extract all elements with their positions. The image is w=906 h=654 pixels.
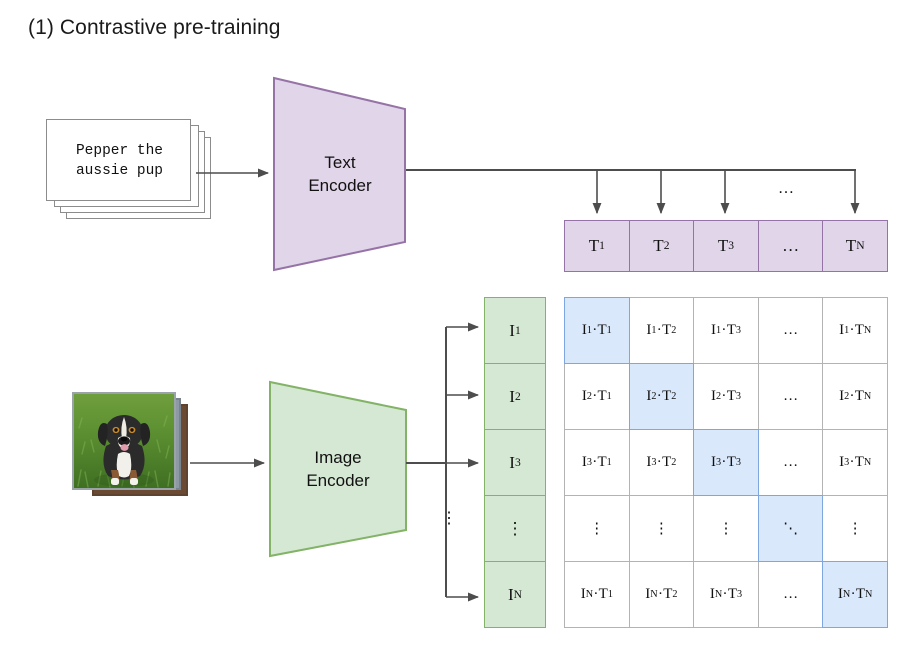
matrix-cell-r3-c3: I3·T3 [693, 429, 759, 496]
matrix-cell-r3-c1: I3·T1 [564, 429, 630, 496]
diagram-canvas: (1) Contrastive pre-training Pepper the … [0, 0, 906, 654]
text-encoder-block: Text Encoder [272, 76, 408, 272]
matrix-cell-r1-c5: I1·TN [822, 297, 888, 364]
image-encoder-block: Image Encoder [268, 380, 408, 558]
matrix-cell-r3-c4: … [758, 429, 824, 496]
similarity-matrix: I1·T1I1·T2I1·T3…I1·TNI2·T1I2·T2I2·T3…I2·… [564, 297, 888, 628]
text-embedding-cell-5: TN [822, 220, 888, 272]
matrix-cell-r5-c5: IN·TN [822, 561, 888, 628]
matrix-cell-r1-c3: I1·T3 [693, 297, 759, 364]
matrix-cell-r5-c2: IN·T2 [629, 561, 695, 628]
text-embedding-cell-2: T2 [629, 220, 695, 272]
matrix-cell-r3-c2: I3·T2 [629, 429, 695, 496]
matrix-cell-r2-c4: … [758, 363, 824, 430]
matrix-cell-r4-c4: ⋱ [758, 495, 824, 562]
caption-line-1: Pepper the [76, 141, 163, 161]
text-encoder-shape [274, 78, 405, 270]
image-embedding-cell-3: I3 [484, 429, 546, 496]
matrix-cell-r1-c1: I1·T1 [564, 297, 630, 364]
matrix-cell-r2-c1: I2·T1 [564, 363, 630, 430]
matrix-cell-r5-c3: IN·T3 [693, 561, 759, 628]
matrix-cell-r2-c5: I2·TN [822, 363, 888, 430]
matrix-row: ⋮⋮⋮⋱⋮ [564, 495, 888, 562]
text-bus-ellipsis: … [778, 180, 794, 198]
text-card-front: Pepper the aussie pup [46, 119, 191, 201]
caption-line-2: aussie pup [76, 161, 163, 181]
matrix-cell-r3-c5: I3·TN [822, 429, 888, 496]
matrix-row: I1·T1I1·T2I1·T3…I1·TN [564, 297, 888, 364]
puppy-photo-icon [74, 394, 174, 488]
matrix-row: IN·T1IN·T2IN·T3…IN·TN [564, 561, 888, 628]
matrix-cell-r2-c3: I2·T3 [693, 363, 759, 430]
page-title: (1) Contrastive pre-training [28, 14, 281, 42]
matrix-cell-r4-c5: ⋮ [822, 495, 888, 562]
matrix-cell-r5-c1: IN·T1 [564, 561, 630, 628]
image-embedding-cell-5: IN [484, 561, 546, 628]
text-embedding-row: T1T2T3…TN [564, 220, 888, 272]
image-embedding-column: I1I2I3⋮IN [484, 297, 546, 628]
matrix-row: I3·T1I3·T2I3·T3…I3·TN [564, 429, 888, 496]
matrix-cell-r4-c2: ⋮ [629, 495, 695, 562]
image-encoder-shape [270, 382, 406, 556]
text-embedding-cell-4: … [758, 220, 824, 272]
image-embedding-cell-4: ⋮ [484, 495, 546, 562]
matrix-cell-r2-c2: I2·T2 [629, 363, 695, 430]
matrix-row: I2·T1I2·T2I2·T3…I2·TN [564, 363, 888, 430]
image-embedding-cell-1: I1 [484, 297, 546, 364]
text-embedding-cell-3: T3 [693, 220, 759, 272]
text-card-caption: Pepper the aussie pup [47, 120, 192, 202]
image-thumbnail-front [72, 392, 176, 490]
matrix-cell-r4-c3: ⋮ [693, 495, 759, 562]
text-embedding-cell-1: T1 [564, 220, 630, 272]
matrix-cell-r4-c1: ⋮ [564, 495, 630, 562]
matrix-cell-r1-c4: … [758, 297, 824, 364]
matrix-cell-r5-c4: … [758, 561, 824, 628]
image-spine-ellipsis: ⋮ [441, 508, 457, 528]
image-embedding-cell-2: I2 [484, 363, 546, 430]
matrix-cell-r1-c2: I1·T2 [629, 297, 695, 364]
